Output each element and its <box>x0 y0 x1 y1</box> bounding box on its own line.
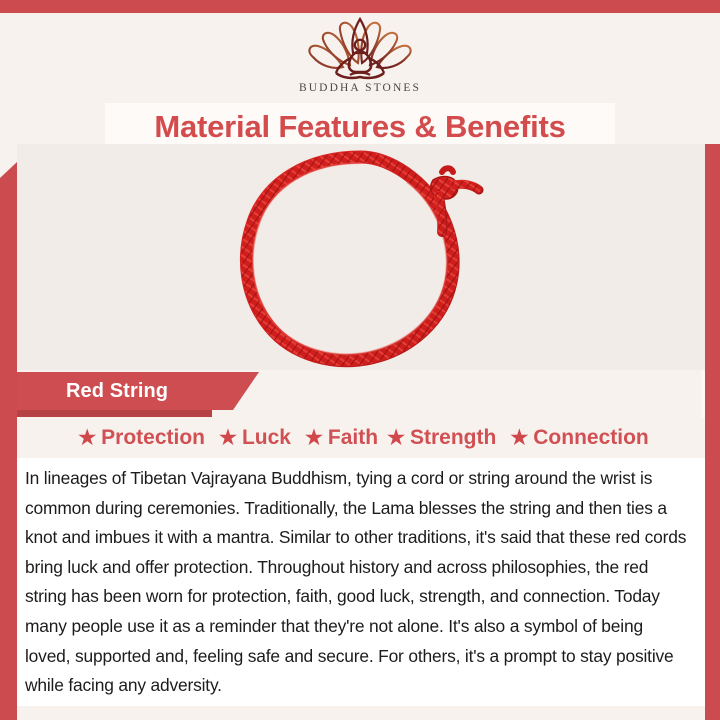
benefit-label: Connection <box>533 426 649 450</box>
benefit-label: Protection <box>101 426 205 450</box>
section-ribbon: Red String <box>17 372 233 410</box>
product-image <box>17 144 705 370</box>
star-icon: ★ <box>387 428 405 448</box>
benefit-item-connection: ★ Connection <box>503 426 650 450</box>
product-infographic: BUDDHA STONES Material Features & Benefi… <box>0 0 720 720</box>
brand-logo: BUDDHA STONES <box>0 15 720 94</box>
ribbon-shadow <box>17 410 212 417</box>
header: BUDDHA STONES Material Features & Benefi… <box>0 13 720 144</box>
frame-left-accent-bar <box>0 178 17 720</box>
bottom-strip <box>17 706 705 720</box>
benefits-list: ★ Protection ★ Luck ★ Faith ★ Strength ★… <box>17 418 705 458</box>
star-icon: ★ <box>219 428 237 448</box>
benefit-item-protection: ★ Protection <box>71 426 212 450</box>
benefit-item-faith: ★ Faith <box>298 426 380 450</box>
brand-name: BUDDHA STONES <box>0 82 720 94</box>
red-string-bracelet-illustration <box>211 144 511 370</box>
description-text: In lineages of Tibetan Vajrayana Buddhis… <box>25 464 691 701</box>
star-icon: ★ <box>78 428 96 448</box>
benefit-label: Faith <box>328 426 378 450</box>
benefit-item-luck: ★ Luck <box>212 426 298 450</box>
star-icon: ★ <box>510 428 528 448</box>
benefit-label: Luck <box>242 426 291 450</box>
page-title-text: Material Features & Benefits <box>154 109 565 145</box>
lotus-meditation-icon <box>304 15 416 81</box>
section-ribbon-label: Red String <box>66 380 168 403</box>
description-panel: In lineages of Tibetan Vajrayana Buddhis… <box>17 458 705 706</box>
star-icon: ★ <box>305 428 323 448</box>
frame-top-border <box>0 0 720 13</box>
benefit-item-strength: ★ Strength <box>380 426 503 450</box>
bracelet-knot <box>431 168 479 232</box>
benefit-label: Strength <box>410 426 496 450</box>
